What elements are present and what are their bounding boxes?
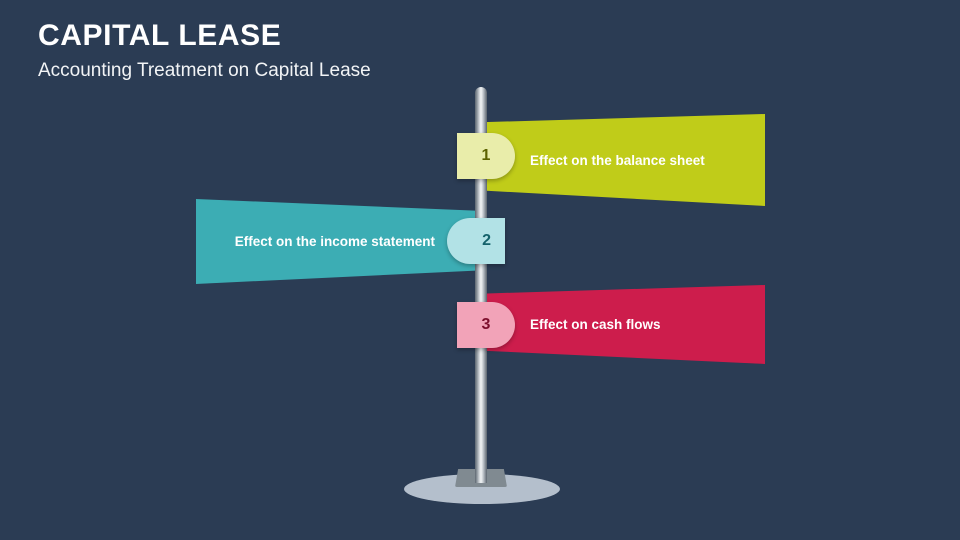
flag-number-badge-3[interactable]: 3 [457, 302, 515, 348]
slide-header: CAPITAL LEASE Accounting Treatment on Ca… [38, 18, 638, 84]
page-title: CAPITAL LEASE [38, 18, 638, 54]
slide-canvas: CAPITAL LEASE Accounting Treatment on Ca… [0, 0, 960, 540]
page-subtitle: Accounting Treatment on Capital Lease [38, 58, 638, 84]
flag-item-2[interactable]: Effect on the income statement [196, 199, 481, 284]
flag-label-2: Effect on the income statement [235, 199, 435, 284]
flag-item-1[interactable]: Effect on the balance sheet [480, 114, 765, 206]
flag-number-badge-2[interactable]: 2 [447, 218, 505, 264]
flag-label-1: Effect on the balance sheet [530, 114, 705, 206]
flag-number-badge-1[interactable]: 1 [457, 133, 515, 179]
flag-label-3: Effect on cash flows [530, 285, 661, 364]
flag-item-3[interactable]: Effect on cash flows [480, 285, 765, 364]
